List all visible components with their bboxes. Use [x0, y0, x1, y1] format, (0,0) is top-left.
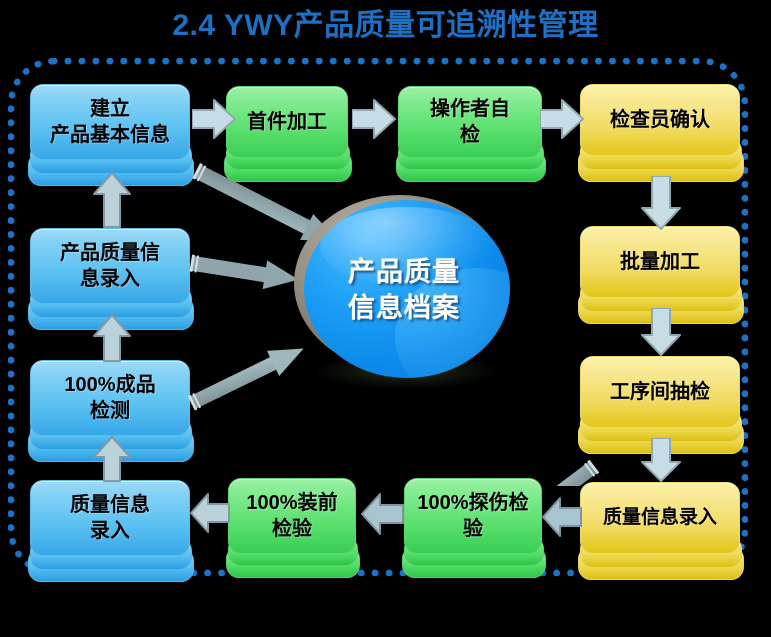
node-label: 操作者自 检 — [430, 96, 510, 148]
node-label: 100%成品 检测 — [64, 372, 155, 424]
arrow-down-icon — [640, 308, 682, 356]
flowchart-canvas: 2.4 YWY产品质量可追溯性管理 建立 产品基本信息 产品质量信 息录入 10… — [0, 0, 771, 637]
page-title: 2.4 YWY产品质量可追溯性管理 — [0, 6, 771, 46]
arrow-left-icon — [360, 492, 404, 536]
node-label: 首件加工 — [247, 109, 327, 135]
arrow-left-icon — [190, 492, 230, 534]
node-label: 100%探伤检 验 — [417, 490, 528, 542]
node-label: 质量信息录入 — [603, 505, 717, 531]
node-operator-self-inspection[interactable]: 操作者自 检 — [398, 86, 542, 158]
node-inspector-confirmation[interactable]: 检查员确认 — [580, 84, 740, 156]
node-label: 100%装前 检验 — [246, 490, 337, 542]
central-archive-sphere[interactable]: 产品质量 信息档案 — [290, 195, 518, 385]
arrow-down-icon — [640, 176, 682, 230]
node-product-quality-info-entry[interactable]: 产品质量信 息录入 — [30, 228, 190, 304]
node-pre-assembly-inspection[interactable]: 100%装前 检验 — [228, 478, 356, 554]
arrow-left-icon — [542, 496, 582, 538]
arrow-diagonal-icon — [470, 386, 600, 486]
node-label: 产品质量信 息录入 — [60, 240, 160, 292]
node-quality-info-entry-right[interactable]: 质量信息录入 — [580, 482, 740, 554]
node-label: 建立 产品基本信息 — [50, 96, 170, 148]
node-batch-processing[interactable]: 批量加工 — [580, 226, 740, 298]
arrow-up-icon — [92, 314, 132, 362]
node-first-article-processing[interactable]: 首件加工 — [226, 86, 348, 158]
sphere-label: 产品质量 信息档案 — [290, 195, 518, 385]
arrow-right-icon — [352, 98, 396, 140]
node-label: 质量信息 录入 — [70, 492, 150, 544]
node-finished-product-inspection[interactable]: 100%成品 检测 — [30, 360, 190, 436]
node-establish-product-basic-info[interactable]: 建立 产品基本信息 — [30, 84, 190, 160]
node-quality-info-entry-left[interactable]: 质量信息 录入 — [30, 480, 190, 556]
arrow-down-icon — [640, 438, 682, 482]
node-label: 工序间抽检 — [610, 379, 710, 405]
arrow-up-icon — [92, 436, 132, 482]
node-in-process-sampling[interactable]: 工序间抽检 — [580, 356, 740, 428]
node-flaw-detection-inspection[interactable]: 100%探伤检 验 — [404, 478, 542, 554]
arrow-right-icon — [540, 98, 584, 140]
node-label: 检查员确认 — [610, 107, 710, 133]
arrow-right-icon — [192, 98, 236, 140]
arrow-up-icon — [92, 172, 132, 228]
node-label: 批量加工 — [620, 249, 700, 275]
